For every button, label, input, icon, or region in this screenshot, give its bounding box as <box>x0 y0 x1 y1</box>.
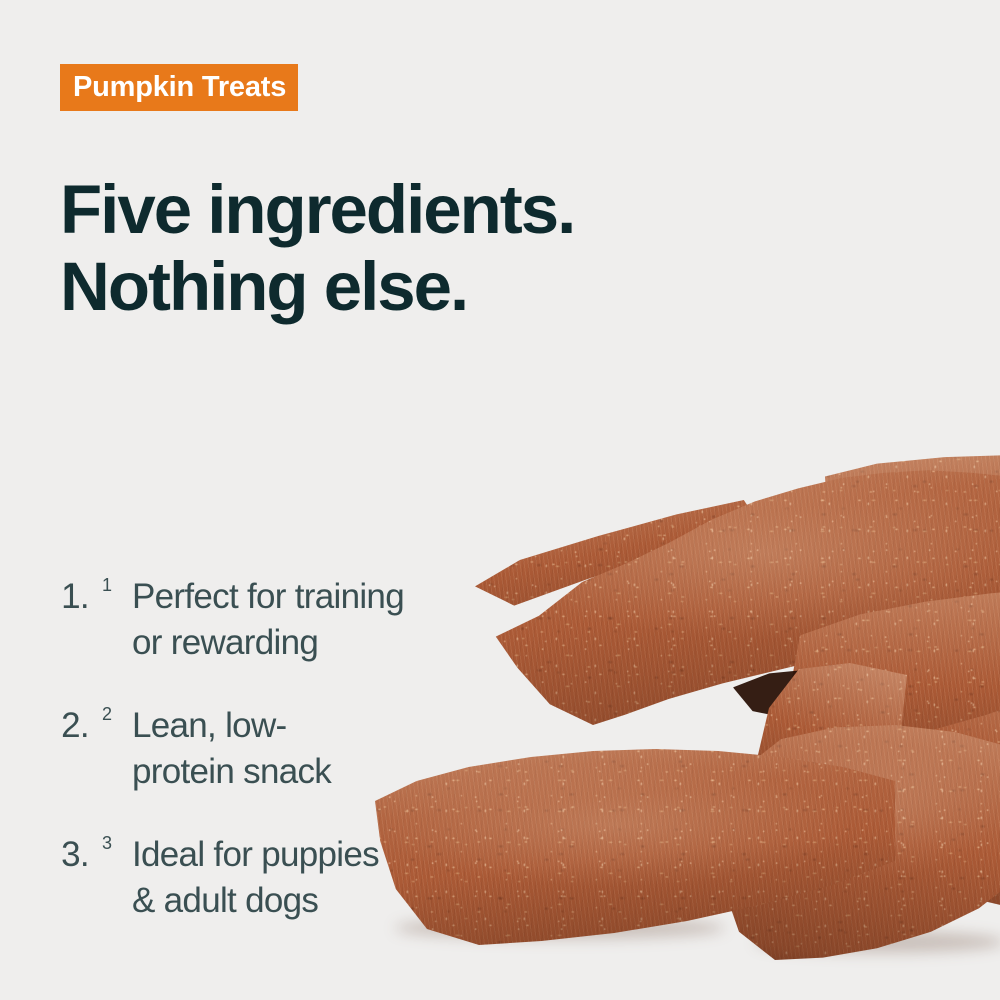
headline-line-1: Five ingredients. <box>60 172 740 249</box>
benefit-marker: 2 <box>102 705 112 723</box>
page-title: Five ingredients. Nothing else. <box>60 172 740 325</box>
benefit-line: protein snack <box>132 749 498 795</box>
benefits-list: 1 Perfect for training or rewarding 2 Le… <box>58 574 498 923</box>
benefit-text: Lean, low- protein snack <box>132 703 498 794</box>
benefit-line: & adult dogs <box>132 878 498 924</box>
eyebrow-badge: Pumpkin Treats <box>60 64 298 111</box>
benefit-item-2: 2 Lean, low- protein snack <box>98 703 498 794</box>
benefit-line: Lean, low- <box>132 703 498 749</box>
benefit-marker: 3 <box>102 834 112 852</box>
benefit-item-3: 3 Ideal for puppies & adult dogs <box>98 832 498 923</box>
benefit-text: Ideal for puppies & adult dogs <box>132 832 498 923</box>
headline-line-2: Nothing else. <box>60 249 740 326</box>
benefit-text: Perfect for training or rewarding <box>132 574 498 665</box>
benefit-item-1: 1 Perfect for training or rewarding <box>98 574 498 665</box>
benefit-marker: 1 <box>102 576 112 594</box>
product-marketing-card: Pumpkin Treats Five ingredients. Nothing… <box>0 0 1000 1000</box>
benefit-line: or rewarding <box>132 620 498 666</box>
benefit-line: Perfect for training <box>132 574 498 620</box>
benefit-line: Ideal for puppies <box>132 832 498 878</box>
eyebrow-label: Pumpkin Treats <box>73 73 286 102</box>
